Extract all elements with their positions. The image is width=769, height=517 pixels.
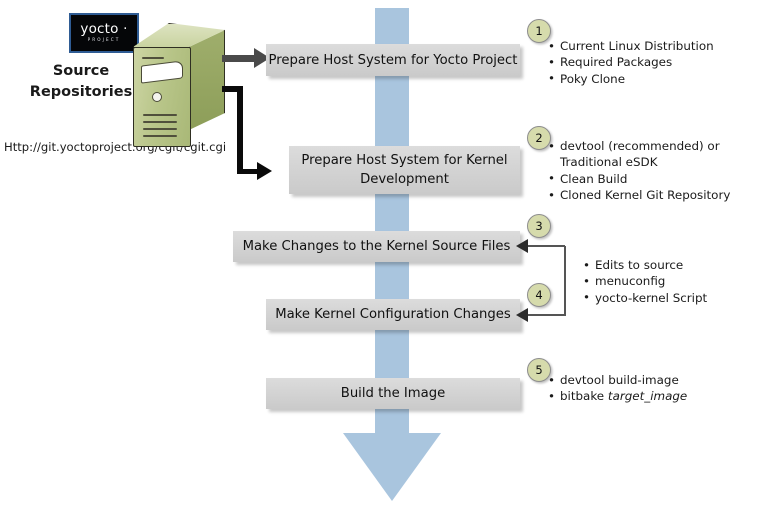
server-vent-line	[143, 114, 177, 116]
yocto-project-logo: yocto · PROJECT	[69, 13, 139, 53]
bullet-item: devtool (recommended) or Traditional eSD…	[548, 138, 763, 171]
step-badge-number: 1	[535, 24, 542, 38]
logo-wordmark: yocto ·	[80, 23, 127, 36]
step5-bullet-list: devtool build-image bitbake target_image	[548, 372, 763, 405]
process-box-label: Make Changes to the Kernel Source Files	[243, 237, 511, 256]
connector-server-to-step1	[222, 55, 256, 62]
server-led-icon	[152, 92, 162, 102]
connector-server-to-step2-vertical	[237, 86, 243, 174]
connector-server-to-step2-arrowhead	[257, 162, 272, 180]
bullet-text: devtool build-image	[560, 373, 679, 387]
bullet-text-italic: target_image	[608, 389, 687, 403]
feedback-bracket-arrowhead-bottom	[516, 308, 528, 322]
bullet-text: bitbake	[560, 389, 608, 403]
connector-server-to-step2-horizontal	[237, 169, 259, 175]
step-badge-4: 4	[527, 283, 551, 307]
step-badge-number: 4	[535, 288, 542, 302]
feedback-bracket-arrowhead-top	[516, 239, 528, 253]
server-vent-line	[143, 121, 177, 123]
server-vent-line	[143, 135, 177, 137]
feedback-bracket-arm-top	[527, 245, 565, 247]
feedback-bracket-vertical	[564, 246, 566, 316]
server-icon	[133, 23, 225, 147]
process-box-label: Build the Image	[341, 384, 445, 403]
bullet-item: Cloned Kernel Git Repository	[548, 187, 763, 203]
process-box-build-image[interactable]: Build the Image	[266, 378, 520, 409]
step-badge-number: 5	[535, 363, 542, 377]
diagram-canvas: yocto · PROJECT Source Repositories Http…	[0, 0, 769, 517]
server-vent-line	[143, 128, 177, 130]
process-box-label: Prepare Host System for Kernel Developme…	[301, 151, 507, 189]
process-box-make-config-changes[interactable]: Make Kernel Configuration Changes	[266, 299, 520, 330]
server-side-face	[189, 30, 225, 130]
step-badge-3: 3	[527, 214, 551, 238]
bullet-item: Current Linux Distribution	[548, 38, 763, 54]
process-box-label: Make Kernel Configuration Changes	[275, 305, 511, 324]
bullet-item: Clean Build	[548, 171, 763, 187]
feedback-bracket-arm-bottom	[527, 314, 565, 316]
source-label-line2: Repositories	[18, 82, 144, 103]
step-badge-number: 3	[535, 219, 542, 233]
logo-subtitle: PROJECT	[88, 37, 121, 43]
source-repositories-label: Source Repositories	[18, 61, 144, 103]
step2-bullet-list: devtool (recommended) or Traditional eSD…	[548, 138, 763, 204]
source-label-line1: Source	[18, 61, 144, 82]
process-box-label-line1: Prepare Host System for Kernel	[301, 153, 507, 168]
bullet-item: Poky Clone	[548, 71, 763, 87]
step-badge-number: 2	[535, 131, 542, 145]
process-box-label: Prepare Host System for Yocto Project	[269, 51, 518, 70]
bullet-item: bitbake target_image	[548, 388, 763, 404]
process-box-prepare-host-kernel[interactable]: Prepare Host System for Kernel Developme…	[289, 146, 520, 194]
bullet-item: Required Packages	[548, 54, 763, 70]
bullet-item: Edits to source	[583, 257, 768, 273]
process-box-make-source-changes[interactable]: Make Changes to the Kernel Source Files	[233, 231, 520, 262]
process-box-prepare-host-yocto[interactable]: Prepare Host System for Yocto Project	[266, 44, 520, 76]
flow-spine-arrowhead	[343, 433, 441, 501]
bullet-item: devtool build-image	[548, 372, 763, 388]
step1-bullet-list: Current Linux Distribution Required Pack…	[548, 38, 763, 87]
bullet-item: yocto-kernel Script	[583, 290, 768, 306]
server-vent-line	[142, 57, 164, 59]
bullet-item: menuconfig	[583, 273, 768, 289]
step34-bullet-list: Edits to source menuconfig yocto-kernel …	[583, 257, 768, 306]
process-box-label-line2: Development	[360, 172, 449, 187]
